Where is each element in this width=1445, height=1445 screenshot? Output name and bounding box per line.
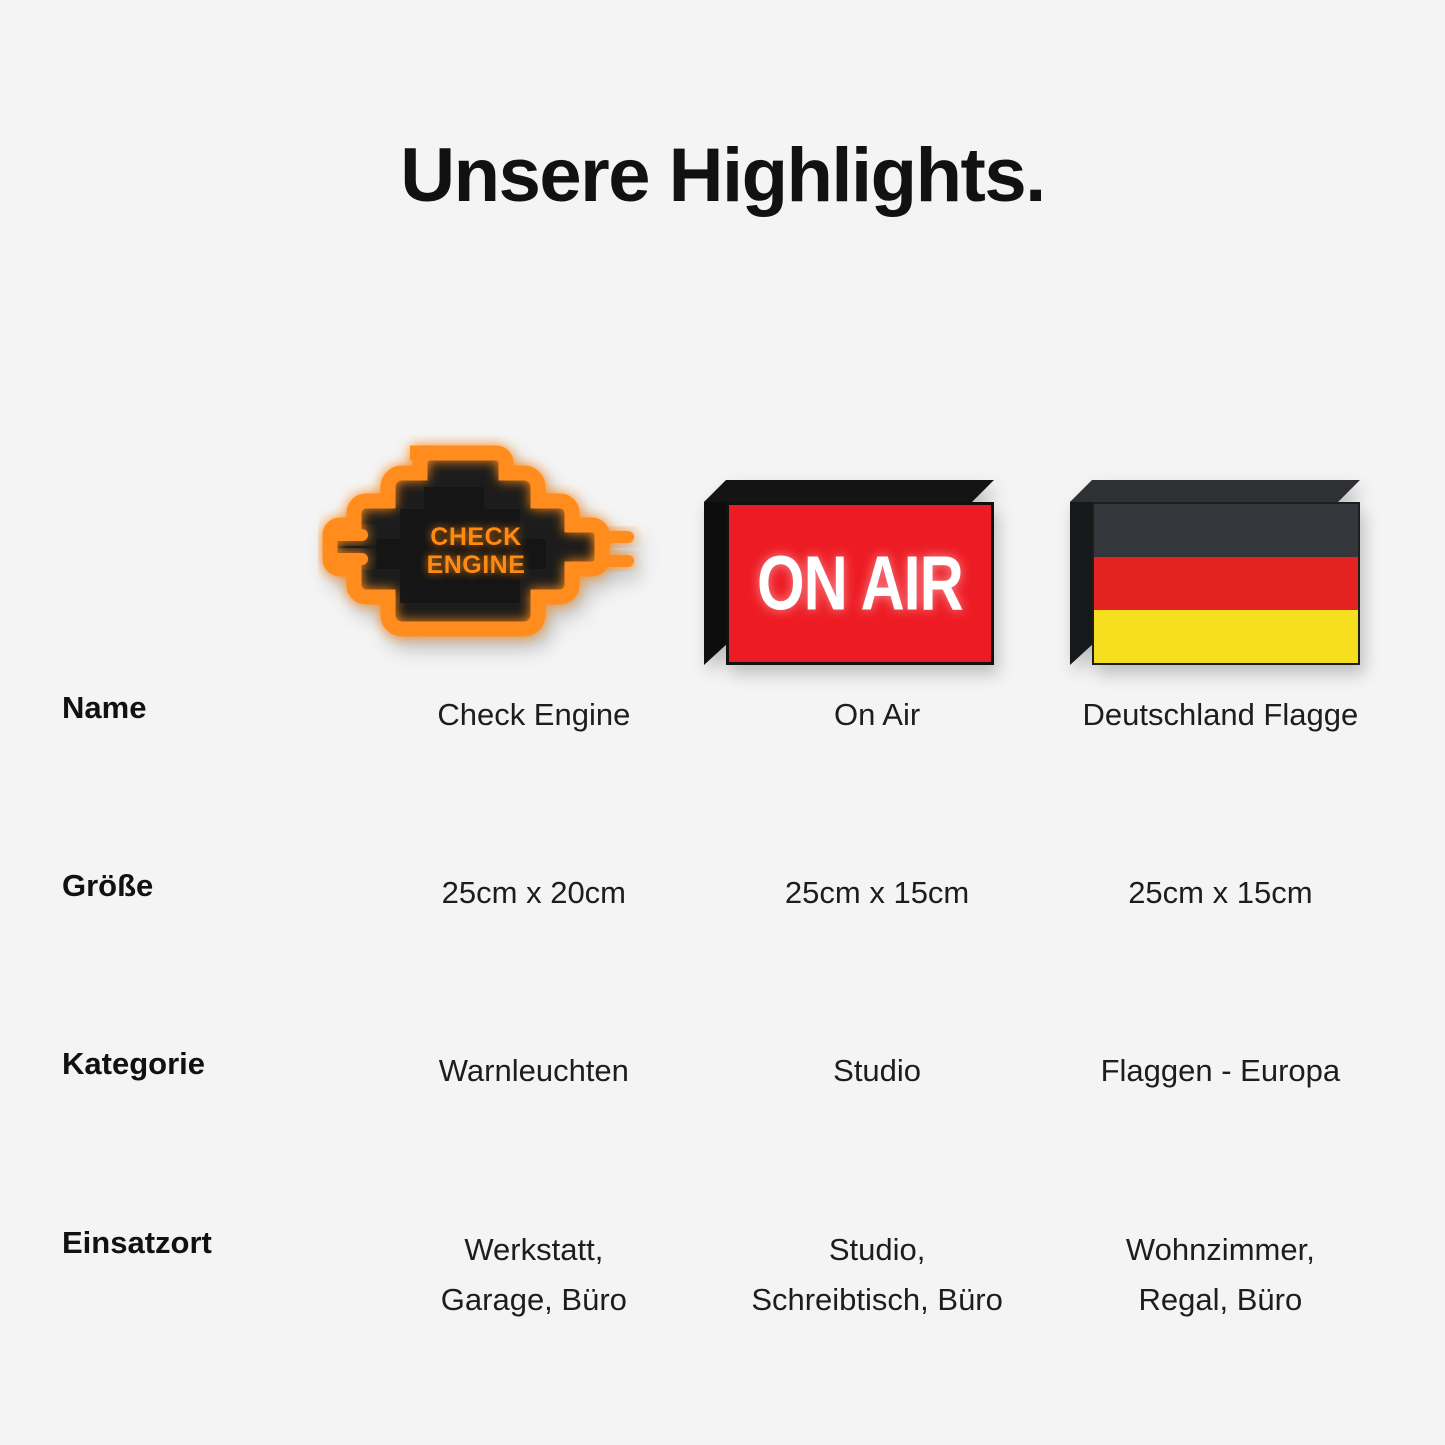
product-image-check-engine: CHECK ENGINE: [300, 405, 666, 665]
cell-einsatzort-on-air: Studio,Schreibtisch, Büro: [705, 1225, 1048, 1325]
row-spacer: [62, 1097, 1392, 1225]
flag-box-side: [1070, 480, 1094, 665]
flag-band-gold: [1094, 610, 1358, 663]
row-label-einsatzort: Einsatzort: [62, 1225, 362, 1325]
flag-box-top: [1070, 480, 1360, 502]
cell-kategorie-check-engine: Warnleuchten: [362, 1046, 705, 1096]
row-label-kategorie: Kategorie: [62, 1046, 362, 1096]
on-air-label: ON AIR: [757, 539, 963, 627]
table-row: Name Check Engine On Air Deutschland Fla…: [62, 690, 1392, 740]
check-engine-label: CHECK ENGINE: [406, 523, 546, 579]
check-engine-label-line1: CHECK: [406, 523, 546, 551]
table-row: Kategorie Warnleuchten Studio Flaggen - …: [62, 1046, 1392, 1096]
highlights-page: Unsere Highlights.: [0, 0, 1445, 1445]
row-spacer: [62, 918, 1392, 1046]
cell-name-on-air: On Air: [705, 690, 1048, 740]
flag-box-face: [1092, 502, 1360, 665]
cell-kategorie-deutschland-flagge: Flaggen - Europa: [1049, 1046, 1392, 1096]
on-air-lightbox: ON AIR: [704, 480, 994, 665]
page-title: Unsere Highlights.: [0, 132, 1445, 219]
german-flag-lightbox: [1070, 480, 1360, 665]
flag-band-black: [1094, 504, 1358, 557]
product-image-on-air: ON AIR: [666, 405, 1032, 665]
row-label-name: Name: [62, 690, 362, 740]
cell-einsatzort-check-engine: Werkstatt,Garage, Büro: [362, 1225, 705, 1325]
row-label-groesse: Größe: [62, 868, 362, 918]
row-spacer: [62, 740, 1392, 868]
on-air-box-side: [704, 480, 728, 665]
cell-groesse-on-air: 25cm x 15cm: [705, 868, 1048, 918]
cell-einsatzort-deutschland-flagge: Wohnzimmer,Regal, Büro: [1049, 1225, 1392, 1325]
check-engine-lamp-icon: CHECK ENGINE: [318, 435, 648, 665]
table-row: Einsatzort Werkstatt,Garage, Büro Studio…: [62, 1225, 1392, 1325]
product-image-deutschland-flagge: [1032, 405, 1398, 665]
spec-table: Name Check Engine On Air Deutschland Fla…: [62, 690, 1392, 1325]
cell-kategorie-on-air: Studio: [705, 1046, 1048, 1096]
cell-name-deutschland-flagge: Deutschland Flagge: [1049, 690, 1392, 740]
product-image-row: CHECK ENGINE ON AIR: [300, 405, 1400, 665]
cell-groesse-deutschland-flagge: 25cm x 15cm: [1049, 868, 1392, 918]
cell-groesse-check-engine: 25cm x 20cm: [362, 868, 705, 918]
table-row: Größe 25cm x 20cm 25cm x 15cm 25cm x 15c…: [62, 868, 1392, 918]
flag-band-red: [1094, 557, 1358, 610]
check-engine-label-line2: ENGINE: [406, 551, 546, 579]
on-air-box-top: [704, 480, 994, 502]
on-air-box-face: ON AIR: [726, 502, 994, 665]
cell-name-check-engine: Check Engine: [362, 690, 705, 740]
